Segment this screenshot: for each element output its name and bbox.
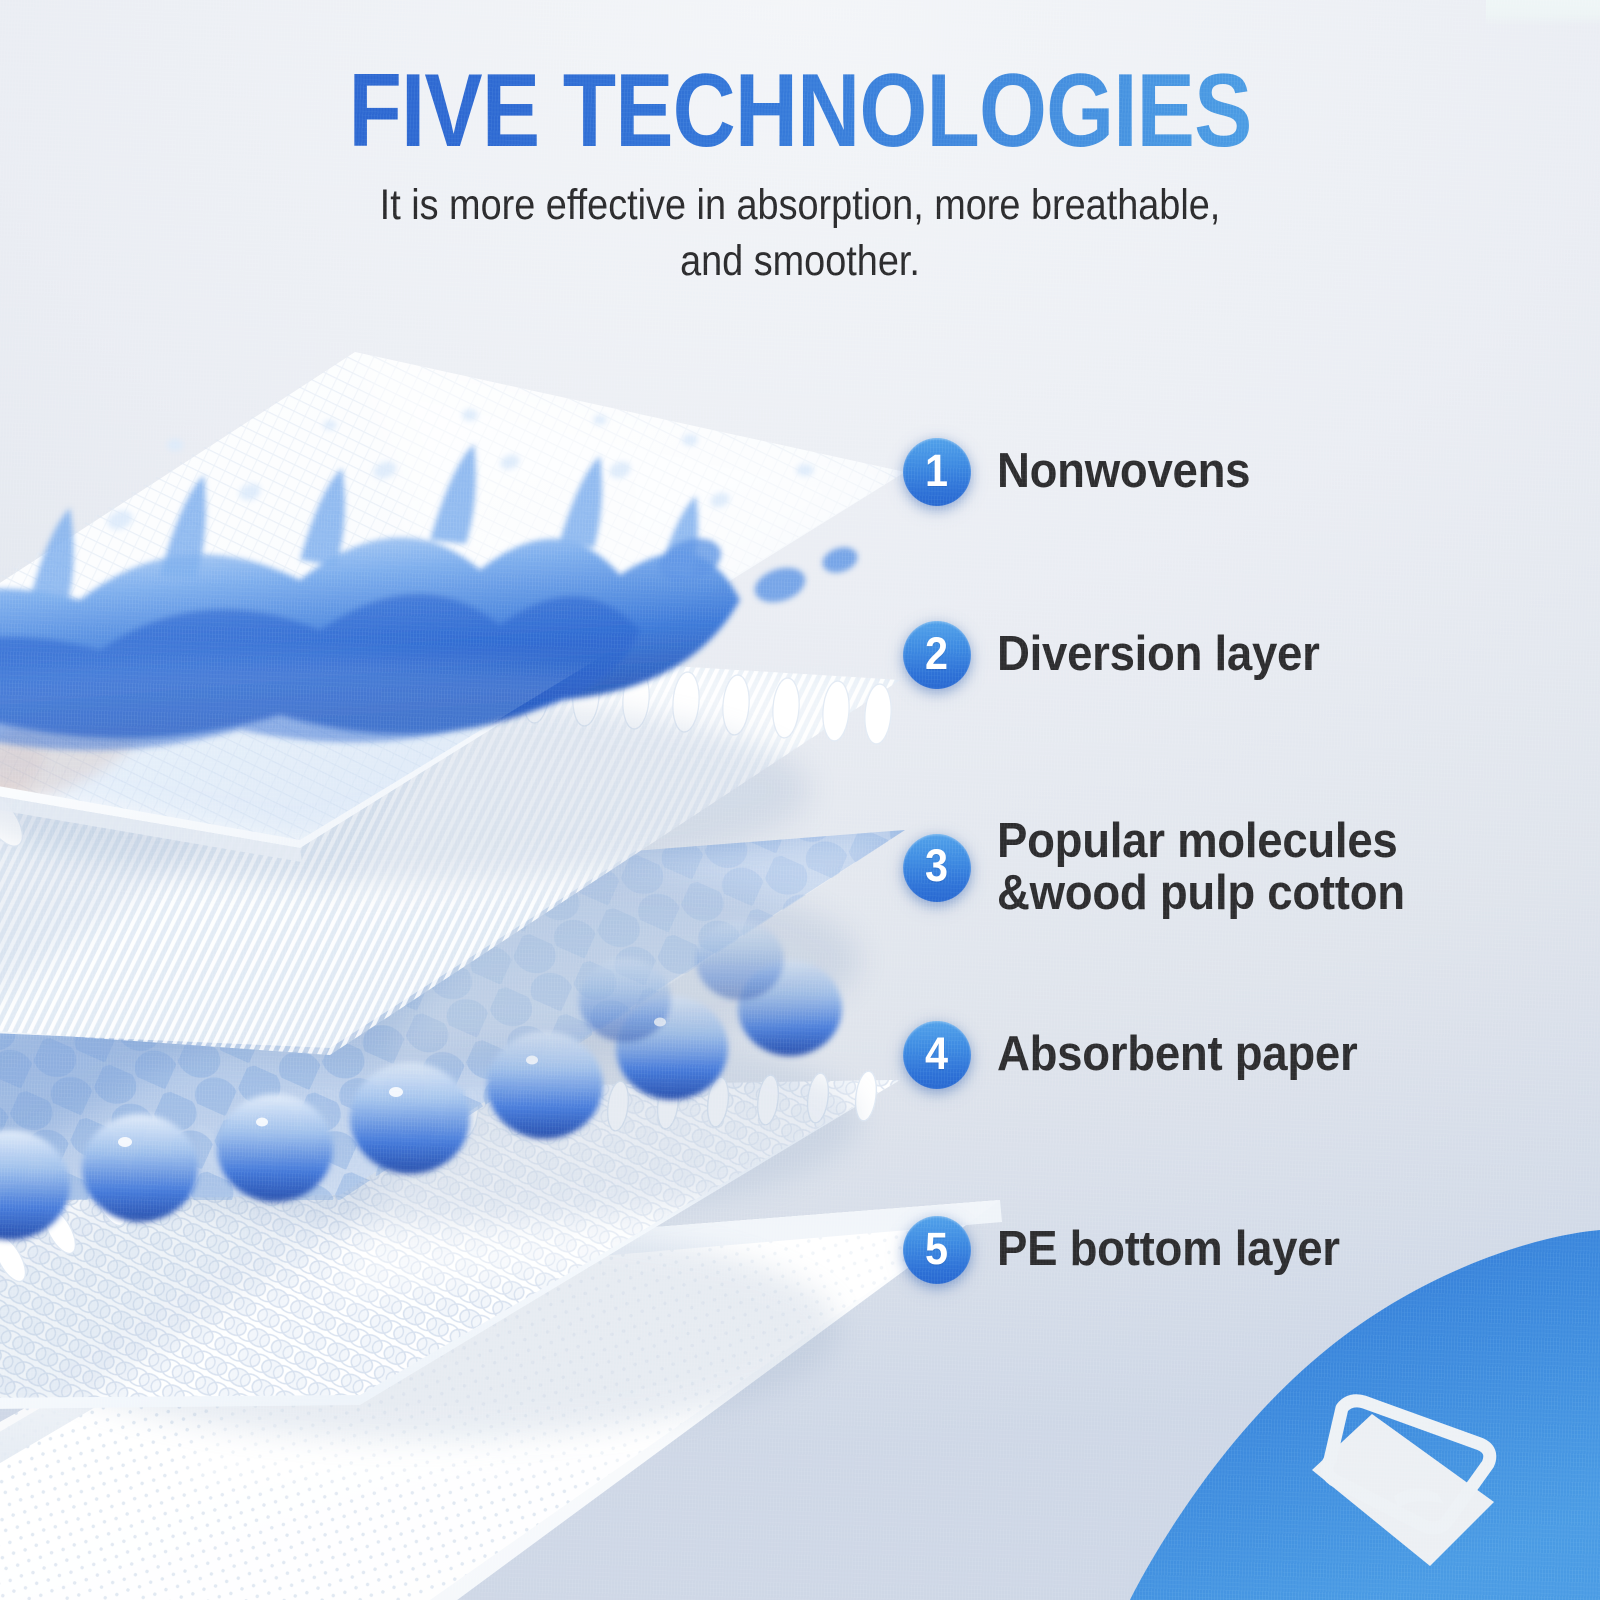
legend-number-3: 3 [925,843,948,888]
legend-badge-2: 2 [903,621,971,689]
legend-label-4: Absorbent paper [997,1029,1357,1081]
legend-item-4[interactable]: 4 Absorbent paper [903,1021,1385,1089]
brand-corner [1130,1230,1600,1600]
legend-number-4: 4 [925,1031,948,1076]
legend-item-1[interactable]: 1 Nonwovens [903,438,1269,506]
infographic-page: FIVE TECHNOLOGIES It is more effective i… [0,0,1600,1600]
legend-label-1: Nonwovens [997,446,1250,498]
legend-badge-1: 1 [903,438,971,506]
legend-number-5: 5 [925,1226,948,1271]
legend-number-2: 2 [925,631,948,676]
legend-label-3: Popular molecules &wood pulp cotton [997,816,1405,920]
legend-badge-3: 3 [903,834,971,902]
nonwoven-top-layer-art [0,300,1000,885]
legend-badge-4: 4 [903,1021,971,1089]
legend-number-1: 1 [925,448,948,493]
legend-item-3[interactable]: 3 Popular molecules &wood pulp cotton [903,816,1436,920]
legend-badge-5: 5 [903,1216,971,1284]
legend-label-2: Diversion layer [997,629,1320,681]
legend-item-2[interactable]: 2 Diversion layer [903,621,1344,689]
